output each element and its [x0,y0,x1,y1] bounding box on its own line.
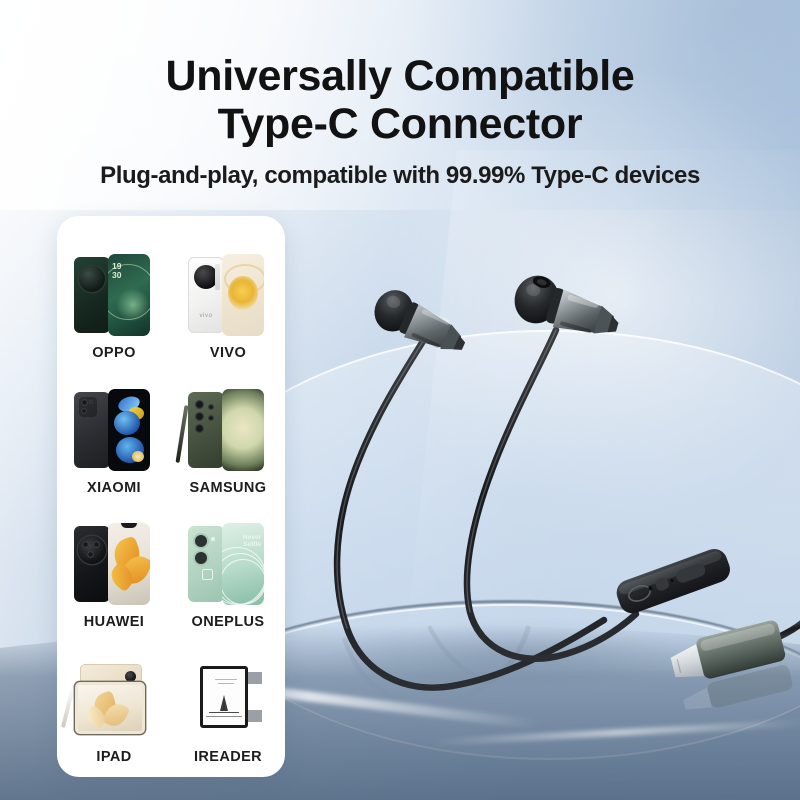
oneplus-tagline: Never Settle [243,535,261,549]
oneplus-phone-back [188,526,224,602]
ipad-screen [78,685,142,731]
device-label-oneplus: ONEPLUS [192,614,265,630]
device-cell-ireader: IREADER [171,632,285,767]
oppo-screen-clock: 19 30 [112,262,121,280]
device-cell-huawei: HUAWEI [57,498,171,633]
oppo-clock-minute: 30 [112,271,121,280]
device-cell-samsung: SAMSUNG [171,363,285,498]
device-cell-oppo: 19 30 OPPO [57,228,171,363]
samsung-phone-art [180,383,276,477]
oppo-phone-back [74,257,110,333]
vivo-screen-orb [228,276,258,310]
samsung-phone-back [188,392,224,468]
xiaomi-camera-module-icon [79,397,97,417]
oppo-screen-glow [116,288,150,322]
device-cell-ipad: IPAD [57,632,171,767]
xiaomi-phone-art [66,383,162,477]
vivo-phone-art: vivo [180,248,276,342]
inline-remote-control [613,545,734,617]
right-earbud-cable [467,330,636,659]
ipad-camera-icon [125,671,136,682]
ipad-stylus [61,686,75,728]
samsung-s-pen-stylus [175,405,188,463]
oneplus-phone-art: Never Settle [180,517,276,611]
vivo-logo: vivo [188,313,224,319]
vivo-phone-screen [222,254,264,336]
huawei-phone-screen [108,523,150,605]
vivo-side-strip [215,264,220,290]
device-label-oppo: OPPO [92,345,136,361]
ireader-body [200,666,248,728]
device-label-xiaomi: XIAOMI [87,480,141,496]
poster-title-line-1: Universally Compatible [0,52,800,100]
compatible-devices-panel: 19 30 OPPO vivo [57,216,285,777]
poster-title-line-2: Type-C Connector [0,100,800,148]
oneplus-tagline-line-2: Settle [243,542,261,549]
ireader-screen [203,669,245,725]
left-earbud-cable [337,338,604,688]
ireader-ereader-art [180,652,276,746]
right-earbud [509,270,625,346]
device-label-huawei: HUAWEI [84,614,144,630]
oppo-phone-art: 19 30 [66,248,162,342]
huawei-screen-notch [121,523,137,528]
device-label-ireader: IREADER [194,749,262,765]
oppo-camera-ring-icon [79,266,105,292]
xiaomi-wallpaper-shape-5 [132,451,144,462]
huawei-camera-ring-icon [78,536,106,564]
device-label-samsung: SAMSUNG [190,480,267,496]
oneplus-phone-screen: Never Settle [222,523,264,605]
xiaomi-phone-screen [108,389,150,471]
ipad-tablet-front [75,682,145,734]
huawei-phone-back [74,526,110,602]
samsung-phone-screen [222,389,264,471]
oneplus-logo-icon [202,569,213,580]
xiaomi-wallpaper-shape-2 [114,411,140,435]
poster-heading-block: Universally Compatible Type-C Connector … [0,52,800,190]
oneplus-wallpaper-wave-3 [222,559,264,605]
ireader-horizon-line-2 [206,716,242,717]
oppo-phone-screen: 19 30 [108,254,150,336]
device-cell-vivo: vivo VIVO [171,228,285,363]
ireader-lighthouse-illustration [220,695,228,711]
ireader-horizon-line-1 [209,712,239,713]
poster-subtitle: Plug-and-play, compatible with 99.99% Ty… [0,162,800,190]
product-marketing-poster: Universally Compatible Type-C Connector … [0,0,800,800]
xiaomi-phone-back [74,392,110,468]
compatible-devices-grid: 19 30 OPPO vivo [57,228,285,767]
vivo-phone-back: vivo [188,257,224,333]
huawei-phone-art [66,517,162,611]
device-cell-oneplus: Never Settle ONEPLUS [171,498,285,633]
samsung-camera-array-icon [195,400,221,436]
usb-type-c-connector [668,613,800,716]
device-label-ipad: IPAD [96,749,131,765]
device-label-vivo: VIVO [210,345,246,361]
device-cell-xiaomi: XIAOMI [57,363,171,498]
ipad-tablet-art [66,652,162,746]
